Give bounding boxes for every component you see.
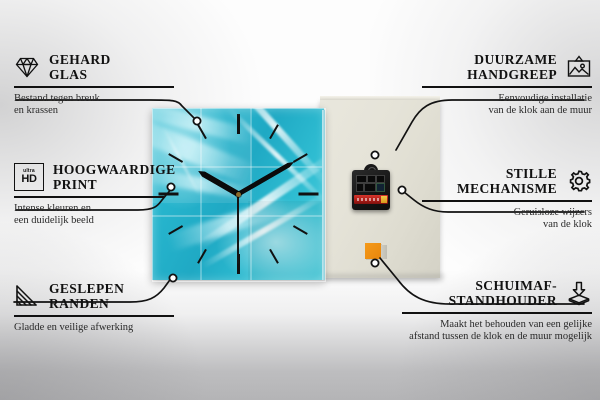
feature-title: HOOGWAARDIGE PRINT — [53, 162, 176, 192]
clock-glass-right-edge — [322, 110, 325, 280]
feature-title: DUURZAME HANDGREEP — [467, 52, 557, 82]
bevelled-edge-icon — [14, 283, 40, 309]
gear-icon — [566, 168, 592, 194]
feature-rule — [422, 200, 592, 202]
foam-spacer-pad — [365, 243, 381, 259]
feature-description: Maakt het behouden van een gelijke afsta… — [402, 319, 592, 344]
foam-spacer-pad-side — [381, 245, 387, 259]
feature-description: Geruisloze wijzers van de klok — [422, 207, 592, 232]
picture-frame-icon — [566, 54, 592, 80]
feature-title: SCHUIMAF- STANDHOUDER — [449, 278, 557, 308]
feature-hoogwaardige-print: ultra HD HOOGWAARDIGE PRINT Intense kleu… — [14, 162, 164, 228]
feature-description: Eenvoudige installatie van de klok aan d… — [422, 93, 592, 118]
spacer-stack-icon — [566, 280, 592, 306]
feature-duurzame-handgreep: DUURZAME HANDGREEP Eenvoudige installati… — [422, 52, 592, 118]
product-infographic: GEHARD GLAS Bestand tegen breuk en krass… — [0, 0, 600, 400]
feature-description: Intense kleuren en een duidelijk beeld — [14, 203, 164, 228]
feature-rule — [422, 86, 592, 88]
feature-rule — [14, 86, 174, 88]
clock-hands-pivot — [236, 192, 241, 197]
feature-rule — [14, 315, 174, 317]
feature-stille-mechanisme: STILLE MECHANISME Geruisloze wijzers van… — [422, 166, 592, 232]
feature-title: GEHARD GLAS — [49, 52, 111, 82]
clock-glass-face — [152, 108, 324, 280]
clock-battery-label — [357, 198, 381, 201]
clock-mechanism-detail — [356, 175, 386, 192]
feature-description: Gladde en veilige afwerking — [14, 322, 174, 335]
feature-rule — [402, 312, 592, 314]
diamond-icon — [14, 54, 40, 80]
feature-title: GESLEPEN RANDEN — [49, 281, 124, 311]
clock-second-hand — [237, 194, 239, 264]
feature-title: STILLE MECHANISME — [457, 166, 557, 196]
feature-geslepen-randen: GESLEPEN RANDEN Gladde en veilige afwerk… — [14, 281, 174, 334]
feature-description: Bestand tegen breuk en krassen — [14, 93, 174, 118]
feature-schuimaf-standhouder: SCHUIMAF- STANDHOUDER Maakt het behouden… — [402, 278, 592, 344]
ultra-hd-icon: ultra HD — [14, 163, 44, 191]
feature-gehard-glas: GEHARD GLAS Bestand tegen breuk en krass… — [14, 52, 174, 118]
feature-rule — [14, 196, 164, 198]
